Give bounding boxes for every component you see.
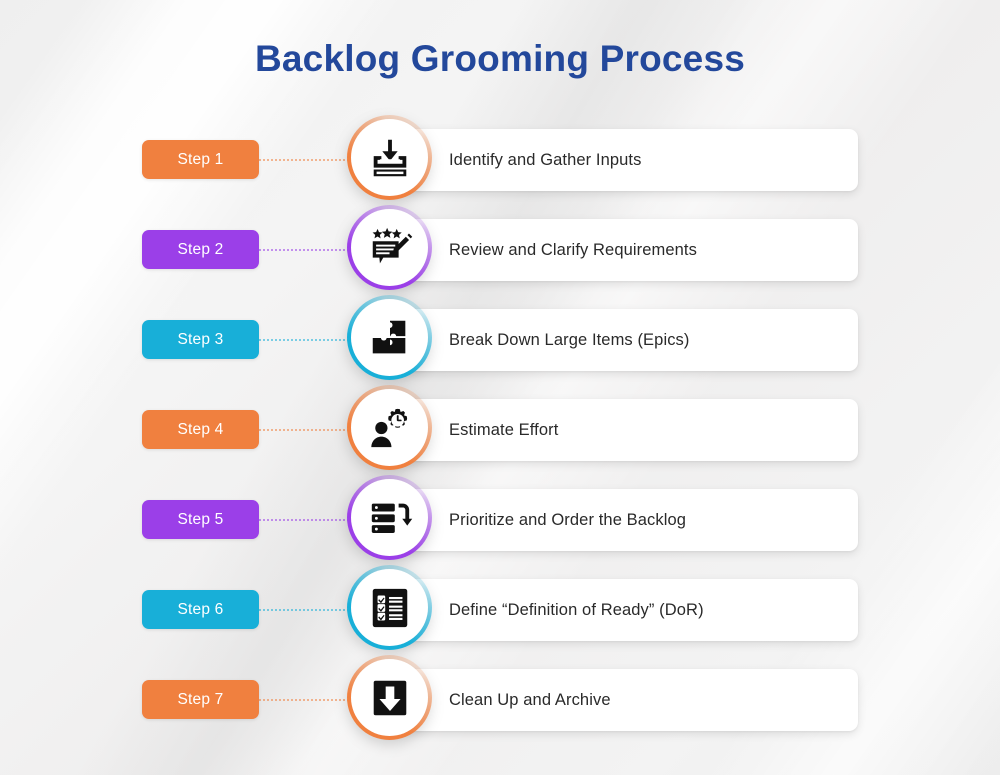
reorder-list-icon <box>367 495 413 541</box>
step-badge[interactable]: Step 2 <box>142 230 259 269</box>
step-icon-circle[interactable] <box>347 475 432 560</box>
step-icon-wrapper <box>351 479 428 556</box>
step-card[interactable]: Clean Up and Archive <box>378 669 858 731</box>
step-card[interactable]: Estimate Effort <box>378 399 858 461</box>
step-card[interactable]: Prioritize and Order the Backlog <box>378 489 858 551</box>
step-connector-line <box>259 339 357 341</box>
step-icon-wrapper <box>351 389 428 466</box>
step-row: Review and Clarify RequirementsStep 2 <box>0 214 1000 304</box>
step-badge[interactable]: Step 3 <box>142 320 259 359</box>
step-row: Clean Up and ArchiveStep 7 <box>0 664 1000 754</box>
step-icon-circle[interactable] <box>347 205 432 290</box>
steps-list: Identify and Gather InputsStep 1 Review … <box>0 124 1000 754</box>
step-connector-line <box>259 429 357 431</box>
step-icon-wrapper <box>351 659 428 736</box>
step-icon-wrapper <box>351 119 428 196</box>
step-badge[interactable]: Step 4 <box>142 410 259 449</box>
download-tray-icon <box>367 135 413 181</box>
step-label: Prioritize and Order the Backlog <box>449 511 686 530</box>
infographic-page: Backlog Grooming Process Identify and Ga… <box>0 0 1000 775</box>
step-row: Estimate EffortStep 4 <box>0 394 1000 484</box>
step-row: Prioritize and Order the BacklogStep 5 <box>0 484 1000 574</box>
step-badge[interactable]: Step 6 <box>142 590 259 629</box>
step-row: Break Down Large Items (Epics)Step 3 <box>0 304 1000 394</box>
step-card[interactable]: Break Down Large Items (Epics) <box>378 309 858 371</box>
step-label: Identify and Gather Inputs <box>449 151 641 170</box>
step-icon-circle[interactable] <box>347 295 432 380</box>
step-connector-line <box>259 699 357 701</box>
step-badge[interactable]: Step 7 <box>142 680 259 719</box>
step-label: Review and Clarify Requirements <box>449 241 697 260</box>
step-connector-line <box>259 519 357 521</box>
step-icon-wrapper <box>351 299 428 376</box>
step-connector-line <box>259 159 357 161</box>
step-card[interactable]: Define “Definition of Ready” (DoR) <box>378 579 858 641</box>
step-icon-circle[interactable] <box>347 385 432 470</box>
step-connector-line <box>259 609 357 611</box>
person-gear-clock-icon <box>367 405 413 451</box>
step-label: Estimate Effort <box>449 421 558 440</box>
step-card[interactable]: Review and Clarify Requirements <box>378 219 858 281</box>
checklist-icon <box>367 585 413 631</box>
puzzle-pieces-icon <box>367 315 413 361</box>
archive-down-arrow-icon <box>367 675 413 721</box>
step-card[interactable]: Identify and Gather Inputs <box>378 129 858 191</box>
step-icon-circle[interactable] <box>347 655 432 740</box>
review-stars-pencil-icon <box>367 225 413 271</box>
step-icon-wrapper <box>351 569 428 646</box>
step-label: Break Down Large Items (Epics) <box>449 331 690 350</box>
step-row: Define “Definition of Ready” (DoR)Step 6 <box>0 574 1000 664</box>
step-icon-wrapper <box>351 209 428 286</box>
step-icon-circle[interactable] <box>347 115 432 200</box>
step-label: Define “Definition of Ready” (DoR) <box>449 601 704 620</box>
page-title: Backlog Grooming Process <box>0 38 1000 80</box>
step-label: Clean Up and Archive <box>449 691 611 710</box>
step-badge[interactable]: Step 5 <box>142 500 259 539</box>
step-connector-line <box>259 249 357 251</box>
step-row: Identify and Gather InputsStep 1 <box>0 124 1000 214</box>
step-badge[interactable]: Step 1 <box>142 140 259 179</box>
step-icon-circle[interactable] <box>347 565 432 650</box>
